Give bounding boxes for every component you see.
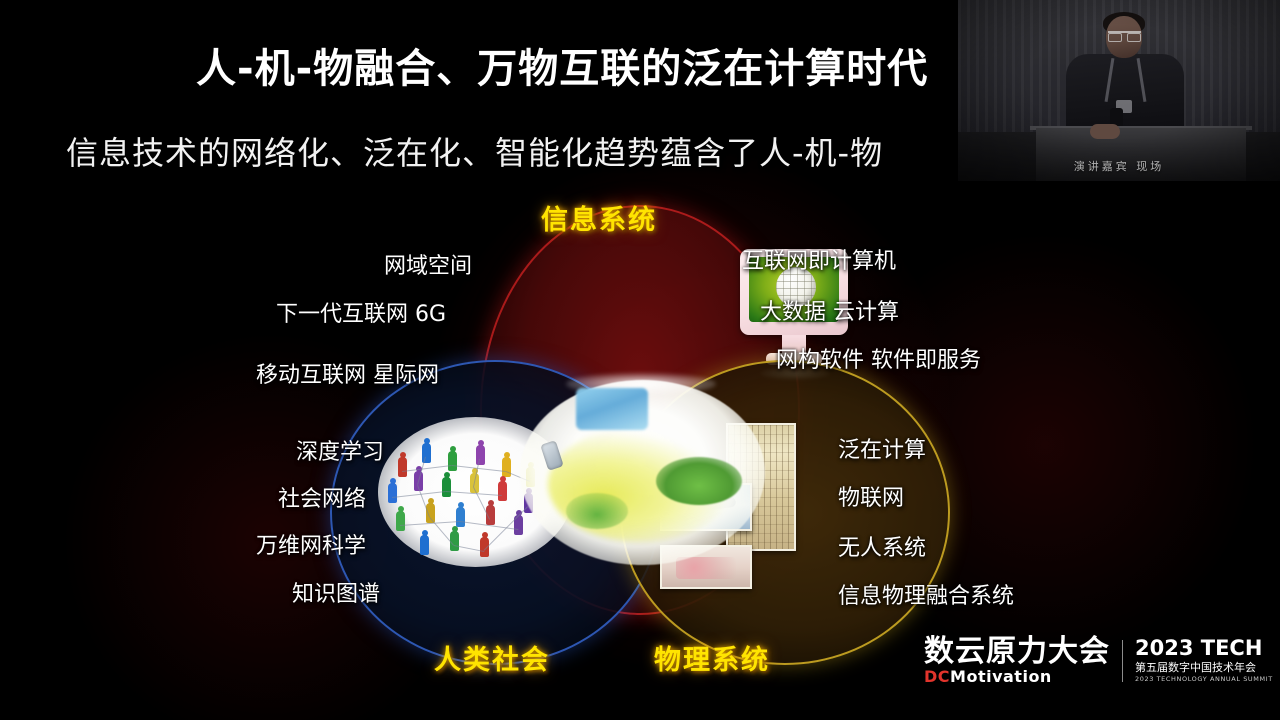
person-figure [442, 477, 451, 497]
video-vignette [958, 0, 1280, 181]
brand-name-en-prefix: DC [924, 667, 950, 686]
fusion-trees-icon-2 [566, 493, 628, 529]
fusion-trees-icon [656, 457, 742, 505]
person-figure [420, 535, 429, 555]
keyword-physical-2: 物联网 [838, 480, 904, 512]
person-figure [448, 451, 457, 471]
keyword-society-1: 深度学习 [296, 434, 384, 466]
person-figure [456, 507, 465, 527]
event-branding: 数云原力大会 DCMotivation 2023 TECH 第五届数字中国技术年… [924, 630, 1273, 692]
event-name-cn: 第五届数字中国技术年会 [1135, 661, 1273, 675]
page-subtitle: 信息技术的网络化、泛在化、智能化趋势蕴含了人-机-物 [66, 128, 1066, 174]
keyword-society-4: 知识图谱 [292, 576, 380, 608]
keyword-info-right-2: 大数据 云计算 [760, 294, 899, 326]
venn-label-human-society: 人类社会 [434, 638, 550, 677]
venn-label-information-system: 信息系统 [541, 198, 657, 237]
person-figure [398, 457, 407, 477]
keyword-society-2: 社会网络 [278, 481, 366, 513]
keyword-info-left-1: 网域空间 [384, 248, 472, 280]
event-name-en: 2023 TECHNOLOGY ANNUAL SUMMIT [1135, 676, 1273, 684]
person-figure [388, 483, 397, 503]
keyword-physical-3: 无人系统 [838, 530, 926, 562]
pip-caption: 演讲嘉宾 现场 [958, 158, 1280, 174]
keyword-info-left-3: 移动互联网 星际网 [256, 357, 439, 389]
keyword-info-left-2: 下一代互联网 6G [276, 296, 446, 328]
person-figure [498, 481, 507, 501]
person-figure [396, 511, 405, 531]
speaker-video-overlay[interactable]: 演讲嘉宾 现场 [958, 0, 1280, 181]
fusion-city-icon [576, 388, 648, 430]
keyword-info-right-3: 网构软件 软件即服务 [776, 342, 981, 374]
brand-name-en-suffix: Motivation [950, 667, 1052, 686]
venn-label-physical-system: 物理系统 [654, 638, 770, 677]
keyword-info-right-1: 互联网即计算机 [742, 243, 896, 275]
keyword-physical-4: 信息物理融合系统 [838, 578, 1014, 610]
brand-name-en: DCMotivation [924, 668, 1110, 686]
keyword-physical-1: 泛在计算 [838, 432, 926, 464]
event-title-block: 2023 TECH 第五届数字中国技术年会 2023 TECHNOLOGY AN… [1135, 638, 1273, 683]
brand-logo: 数云原力大会 DCMotivation [924, 636, 1110, 686]
presentation-slide: 人-机-物融合、万物互联的泛在计算时代 信息技术的网络化、泛在化、智能化趋势蕴含… [0, 0, 1280, 720]
brand-name-cn: 数云原力大会 [924, 636, 1110, 668]
brand-divider [1122, 640, 1123, 682]
keyword-society-3: 万维网科学 [256, 528, 366, 560]
event-year-tech: 2023 TECH [1135, 638, 1273, 659]
